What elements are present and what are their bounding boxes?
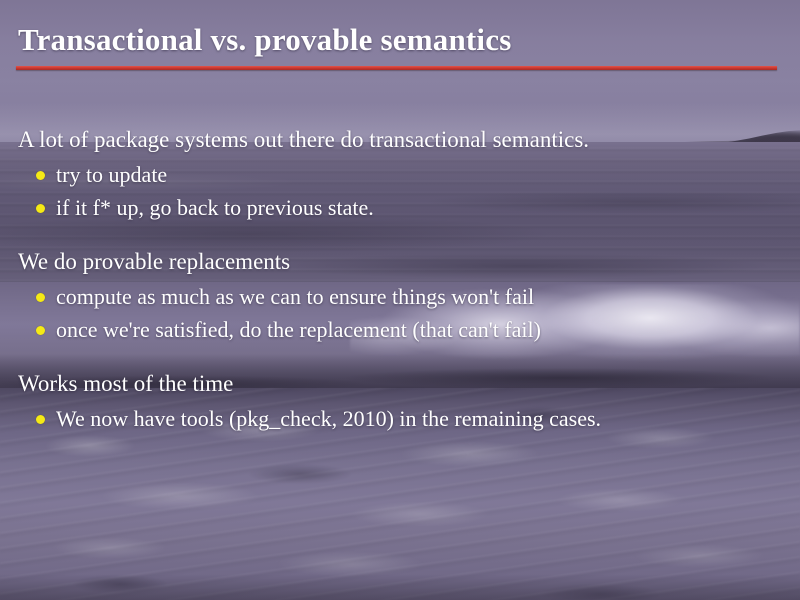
bullet-dot-icon — [36, 293, 45, 302]
bullet-dot-icon — [36, 415, 45, 424]
content-block: A lot of package systems out there do tr… — [0, 124, 800, 224]
block-lead-text: Works most of the time — [0, 368, 800, 400]
slide-title: Transactional vs. provable semantics — [18, 22, 511, 58]
list-item-label: once we're satisfied, do the replacement… — [56, 317, 541, 342]
block-lead-text: A lot of package systems out there do tr… — [0, 124, 800, 156]
slide-body: A lot of package systems out there do tr… — [0, 124, 800, 435]
list-item: compute as much as we can to ensure thin… — [0, 280, 800, 313]
bullet-list: We now have tools (pkg_check, 2010) in t… — [0, 402, 800, 435]
list-item-label: try to update — [56, 162, 167, 187]
bullet-dot-icon — [36, 326, 45, 335]
list-item: once we're satisfied, do the replacement… — [0, 313, 800, 346]
title-underline-rule — [16, 66, 777, 70]
bullet-list: compute as much as we can to ensure thin… — [0, 280, 800, 346]
content-block: We do provable replacements compute as m… — [0, 246, 800, 346]
list-item-label: compute as much as we can to ensure thin… — [56, 284, 534, 309]
list-item-label: if it f* up, go back to previous state. — [56, 195, 374, 220]
list-item-label: We now have tools (pkg_check, 2010) in t… — [56, 406, 601, 431]
presentation-slide: Transactional vs. provable semantics A l… — [0, 0, 800, 600]
bullet-dot-icon — [36, 204, 45, 213]
bullet-dot-icon — [36, 171, 45, 180]
list-item: if it f* up, go back to previous state. — [0, 191, 800, 224]
list-item: We now have tools (pkg_check, 2010) in t… — [0, 402, 800, 435]
content-block: Works most of the time We now have tools… — [0, 368, 800, 435]
bullet-list: try to update if it f* up, go back to pr… — [0, 158, 800, 224]
block-lead-text: We do provable replacements — [0, 246, 800, 278]
list-item: try to update — [0, 158, 800, 191]
